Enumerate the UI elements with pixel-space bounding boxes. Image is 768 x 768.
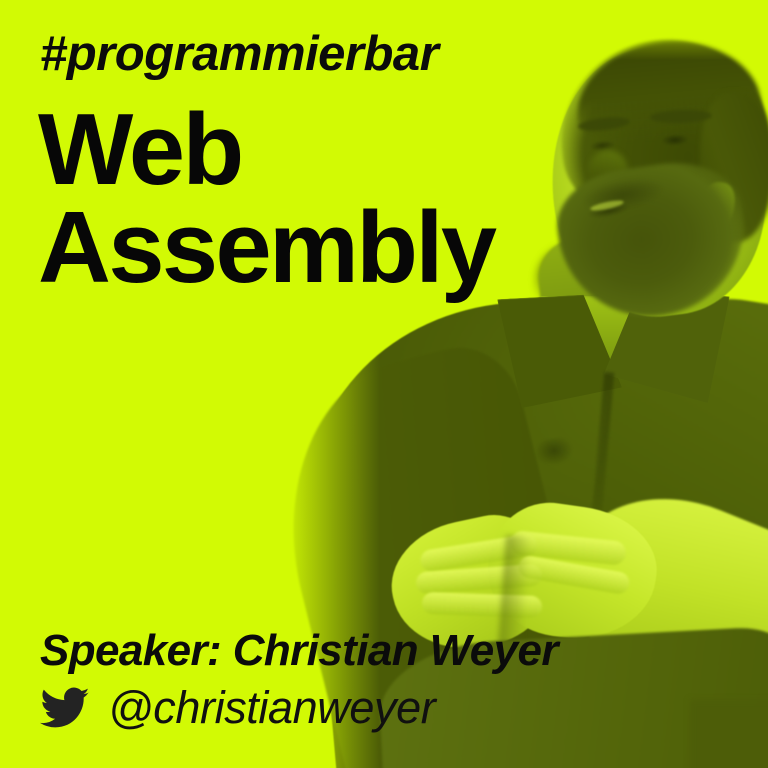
page-title: Web Assembly xyxy=(38,102,494,298)
speaker-name-label: Speaker: Christian Weyer xyxy=(40,626,558,676)
twitter-bird-icon xyxy=(36,683,94,733)
brand-hashtag: #programmierbar xyxy=(40,26,438,82)
twitter-handle-text: @christianweyer xyxy=(108,682,435,734)
cover-text-layer: #programmierbar Web Assembly Speaker: Ch… xyxy=(0,0,768,768)
podcast-episode-cover: #programmierbar Web Assembly Speaker: Ch… xyxy=(0,0,768,768)
twitter-handle-row: @christianweyer xyxy=(36,682,435,734)
